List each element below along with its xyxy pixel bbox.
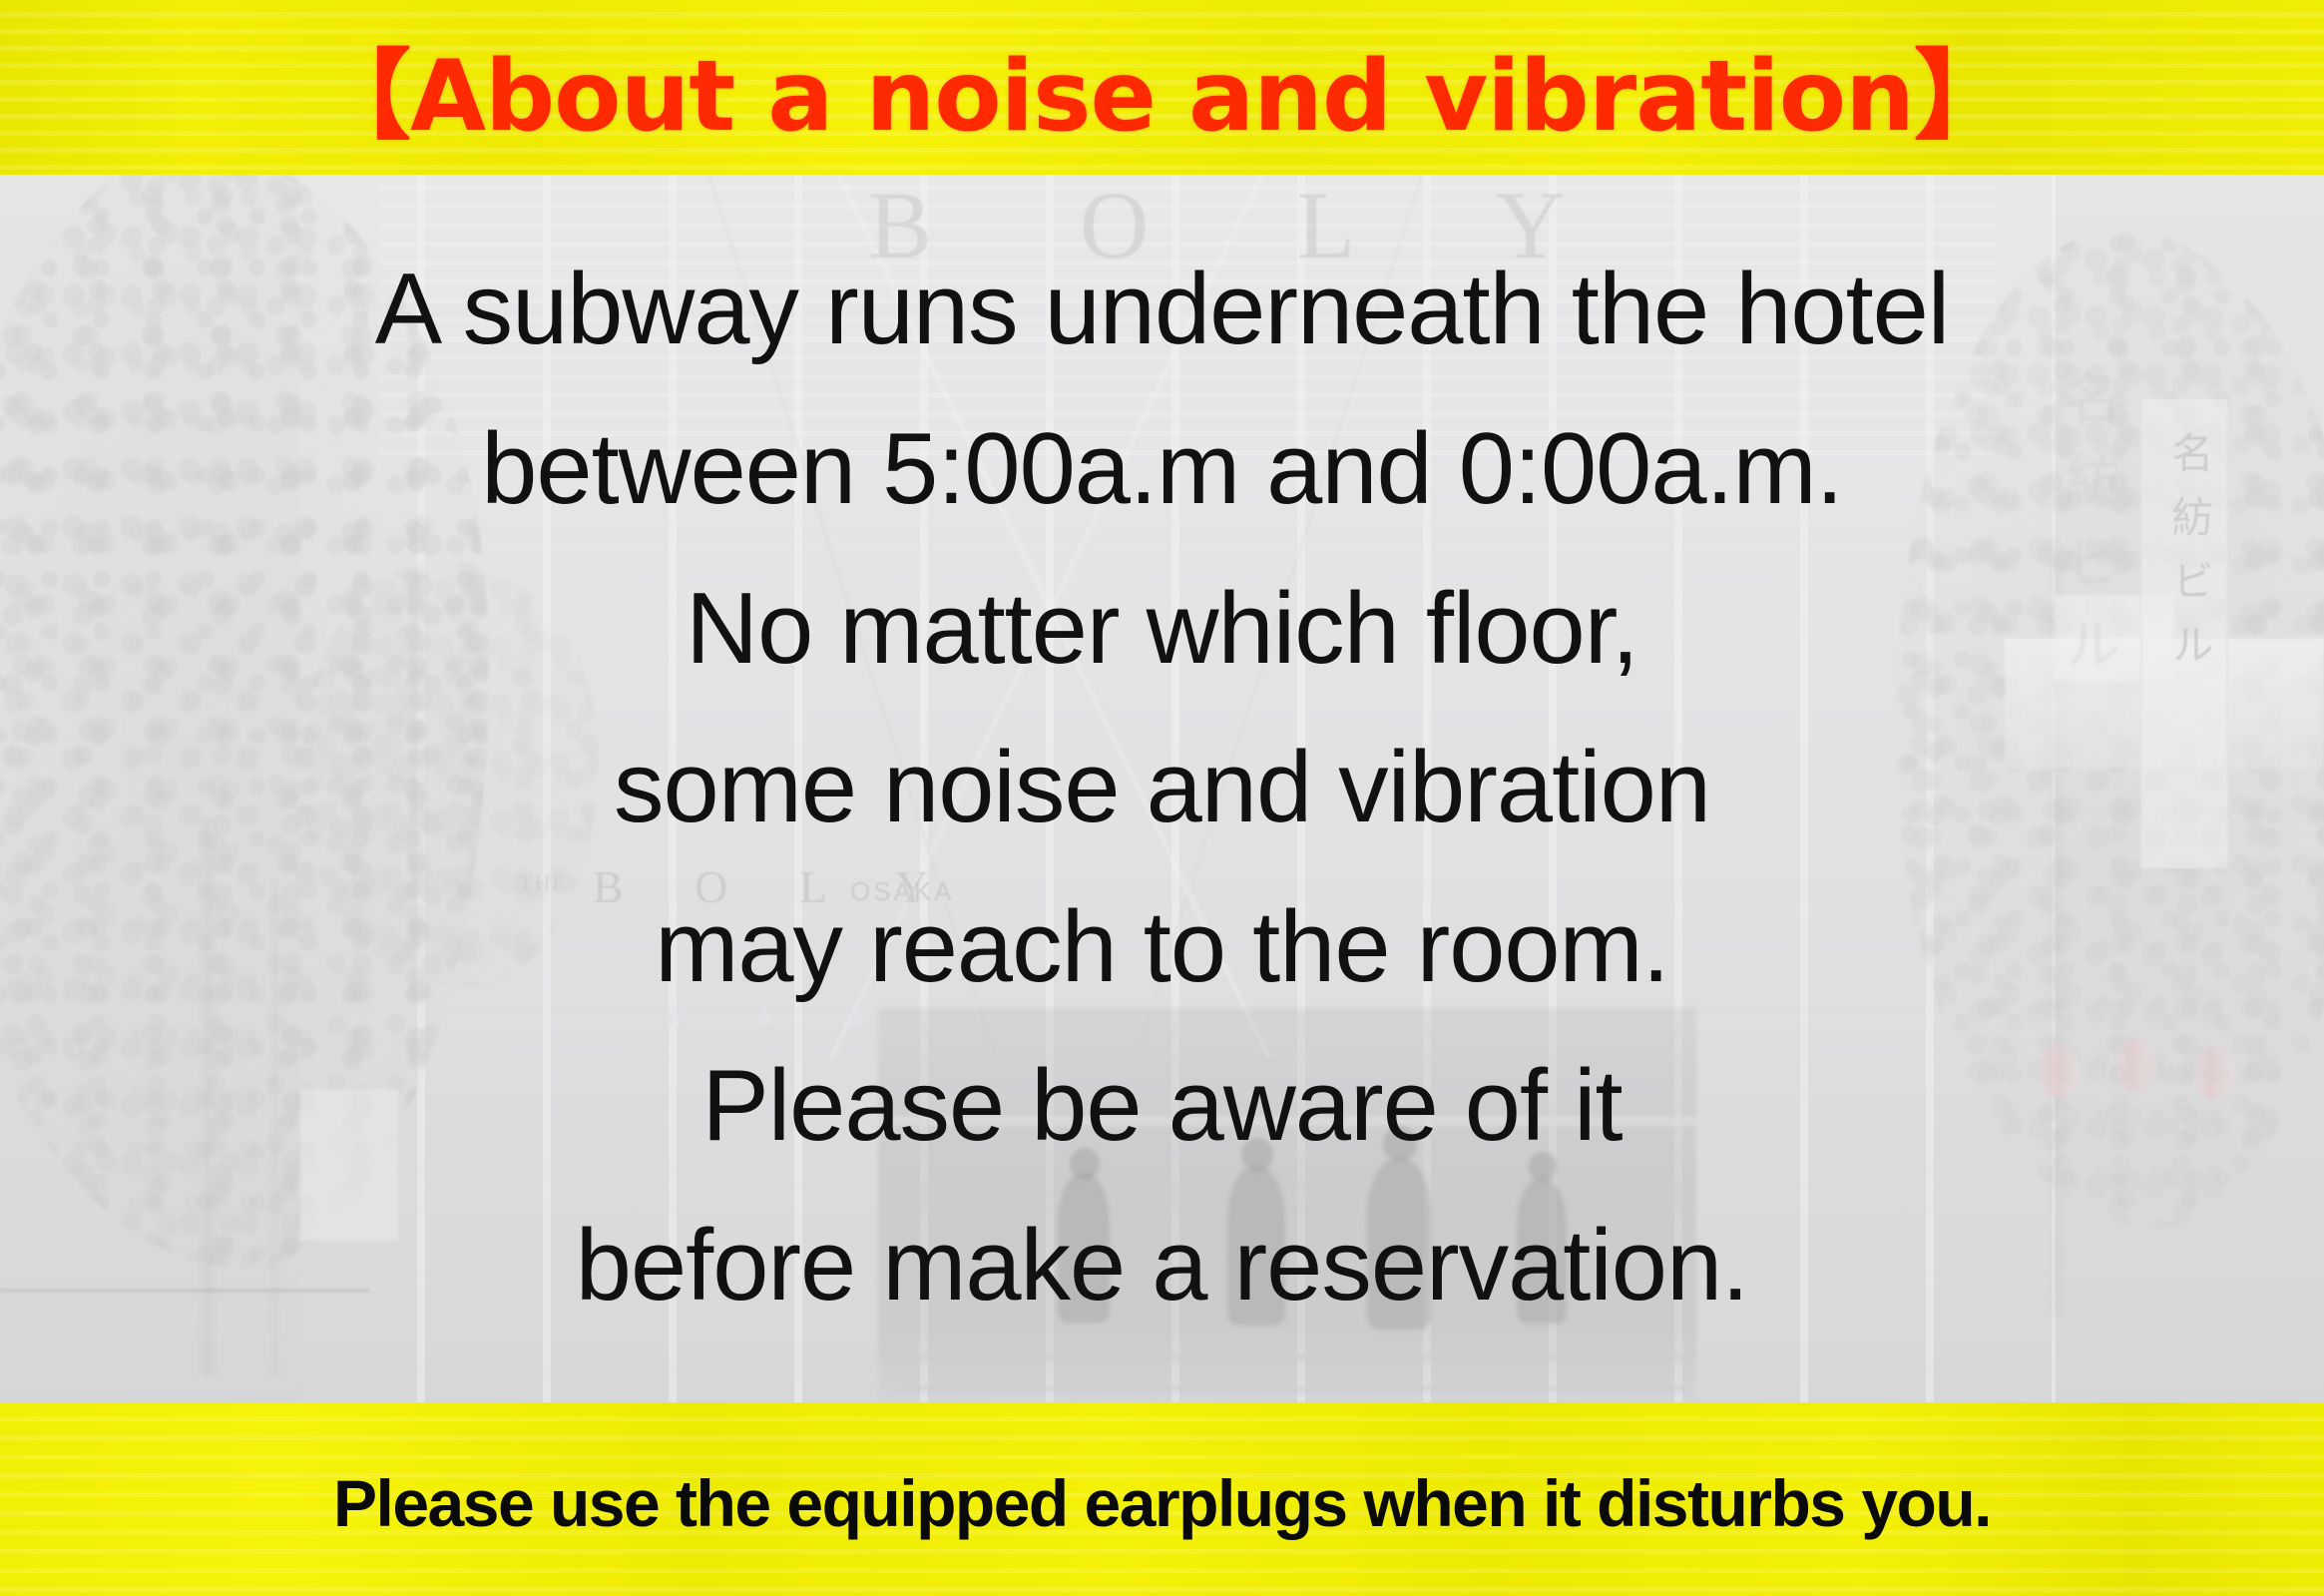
notice-line: between 5:00a.m and 0:00a.m. xyxy=(481,390,1843,550)
notice-body: A subway runs underneath the hotel betwe… xyxy=(0,175,2324,1402)
top-yellow-banner: 【About a noise and vibration】 xyxy=(0,0,2324,175)
footer-note: Please use the equipped earplugs when it… xyxy=(0,1465,2324,1541)
notice-line: Please be aware of it xyxy=(701,1027,1622,1187)
notice-line: some noise and vibration xyxy=(614,709,1710,868)
notice-poster: 名紡ビル 名紡ビル B O L Y THE B O L Y OSAKA ★ ★ … xyxy=(0,0,2324,1596)
page-title: 【About a noise and vibration】 xyxy=(0,17,2324,159)
notice-line: A subway runs underneath the hotel xyxy=(375,231,1950,390)
notice-line: No matter which floor, xyxy=(686,550,1638,710)
notice-line: may reach to the room. xyxy=(655,868,1669,1028)
bottom-yellow-banner: Please use the equipped earplugs when it… xyxy=(0,1402,2324,1596)
notice-line: before make a reservation. xyxy=(576,1187,1748,1346)
